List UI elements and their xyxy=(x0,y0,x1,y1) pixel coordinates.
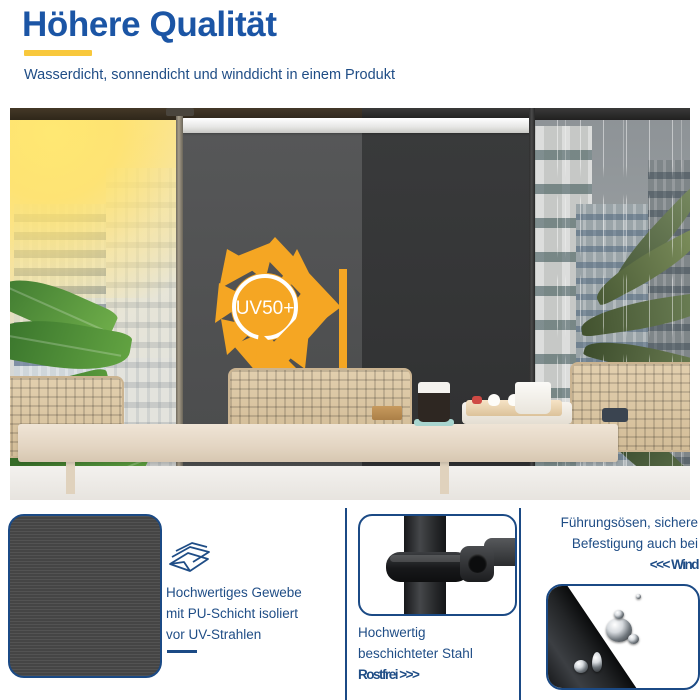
panel-steel-text: Hochwertig beschichteter Stahl Rostfrei … xyxy=(358,622,518,685)
table-leg xyxy=(440,458,449,494)
pole-eyelet-hole xyxy=(468,554,487,573)
coated-steel-pole-photo xyxy=(358,514,517,616)
page-subtitle: Wasserdicht, sonnendicht und winddicht i… xyxy=(24,64,395,86)
panel-fabric-line-3: vor UV-Strahlen xyxy=(166,624,342,645)
uv50-badge-icon: UV50+ xyxy=(213,227,357,385)
fabric-swatch-dark-grey xyxy=(8,514,162,678)
water-droplet xyxy=(614,610,624,619)
hero-image: UV50+ xyxy=(10,108,690,500)
panel-fabric-text: Hochwertiges Gewebe mit PU-Schicht isoli… xyxy=(166,582,342,645)
water-droplet xyxy=(574,660,588,673)
panel-eyelets-line-1: Führungsösen, sichere xyxy=(528,512,698,533)
water-droplet xyxy=(592,652,602,672)
panel-steel-line-1: Hochwertig xyxy=(358,622,518,643)
panel-fabric-dash xyxy=(167,650,197,653)
berry xyxy=(472,396,482,404)
panel-eyelets-line-3: <<< Wind xyxy=(528,554,698,575)
cream-dollop xyxy=(488,394,500,406)
water-droplet xyxy=(636,594,641,599)
dining-table xyxy=(18,424,618,462)
water-droplet xyxy=(628,634,639,644)
awning-post-cap xyxy=(166,108,194,116)
title-underline-rule xyxy=(24,50,92,56)
uv-badge-label: UV50+ xyxy=(236,298,295,319)
panel-divider-2 xyxy=(519,508,521,700)
table-leg xyxy=(66,458,75,494)
terrace-foreground xyxy=(10,382,690,500)
ceramic-mug xyxy=(515,382,551,414)
terrace-floor xyxy=(10,466,690,500)
napkin xyxy=(372,406,402,420)
pole-collar-highlight xyxy=(390,555,466,562)
awning-cassette xyxy=(182,118,534,133)
panel-divider-1 xyxy=(345,508,347,700)
panel-fabric-line-1: Hochwertiges Gewebe xyxy=(166,582,342,603)
product-feature-banner: Höhere Qualität Wasserdicht, sonnendicht… xyxy=(0,0,700,700)
panel-fabric-line-2: mit PU-Schicht isoliert xyxy=(166,603,342,624)
panel-steel-line-3: Rostfrei >>> xyxy=(358,664,518,685)
page-title: Höhere Qualität xyxy=(22,4,277,46)
panel-steel-line-2: beschichteter Stahl xyxy=(358,643,518,664)
water-beading-pole-photo xyxy=(546,584,700,690)
smartphone xyxy=(602,408,628,422)
feature-panels: Hochwertiges Gewebe mit PU-Schicht isoli… xyxy=(0,502,700,700)
header: Höhere Qualität Wasserdicht, sonnendicht… xyxy=(0,0,700,104)
panel-eyelets-text: Führungsösen, sichere Befestigung auch b… xyxy=(528,512,698,575)
layered-fabric-icon xyxy=(166,540,212,576)
coffee-cup xyxy=(418,382,450,422)
panel-eyelets-line-2: Befestigung auch bei xyxy=(528,533,698,554)
